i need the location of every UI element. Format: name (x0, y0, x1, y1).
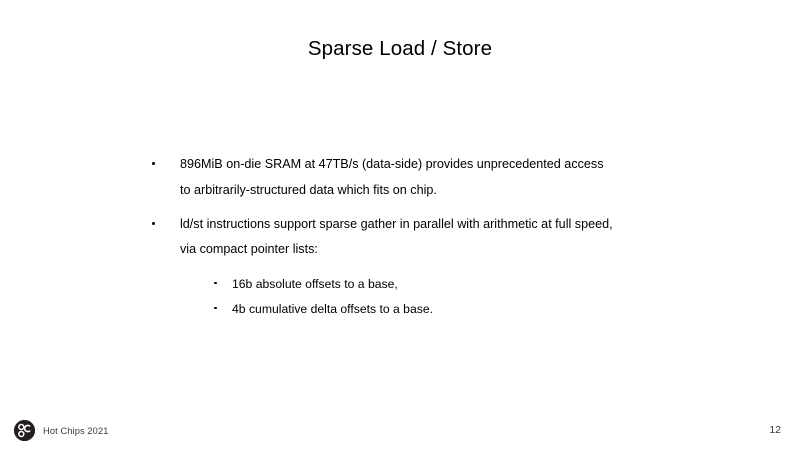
sub-bullet-dot-icon (214, 282, 217, 285)
footer-branding: Hot Chips 2021 (14, 420, 108, 441)
slide-body: 896MiB on-die SRAM at 47TB/s (data-side)… (150, 152, 670, 322)
bullet-2-line-1: ld/st instructions support sparse gather… (180, 212, 670, 238)
hot-chips-logo-icon (14, 420, 35, 441)
slide-footer: Hot Chips 2021 12 (0, 418, 800, 450)
slide-canvas: Sparse Load / Store 896MiB on-die SRAM a… (0, 0, 800, 450)
page-number: 12 (769, 423, 781, 437)
bullet-dot-icon (152, 162, 155, 165)
sub-bullet-item-1: 16b absolute offsets to a base, (211, 272, 670, 297)
sub-bullet-dot-icon (214, 307, 217, 310)
sub-bullet-1-line-1: 16b absolute offsets to a base, (232, 272, 670, 297)
footer-label: Hot Chips 2021 (43, 425, 108, 437)
sub-bullet-2-line-1: 4b cumulative delta offsets to a base. (232, 297, 670, 322)
bullet-1-line-1: 896MiB on-die SRAM at 47TB/s (data-side)… (180, 152, 670, 178)
sub-bullet-list: 16b absolute offsets to a base, 4b cumul… (180, 272, 670, 322)
bullet-item-1: 896MiB on-die SRAM at 47TB/s (data-side)… (150, 152, 670, 203)
bullet-2-line-2: via compact pointer lists: (180, 237, 670, 263)
bullet-1-line-2: to arbitrarily-structured data which fit… (180, 178, 670, 204)
bullet-item-2: ld/st instructions support sparse gather… (150, 212, 670, 322)
slide-title: Sparse Load / Store (0, 36, 800, 62)
sub-bullet-item-2: 4b cumulative delta offsets to a base. (211, 297, 670, 322)
bullet-dot-icon (152, 222, 155, 225)
